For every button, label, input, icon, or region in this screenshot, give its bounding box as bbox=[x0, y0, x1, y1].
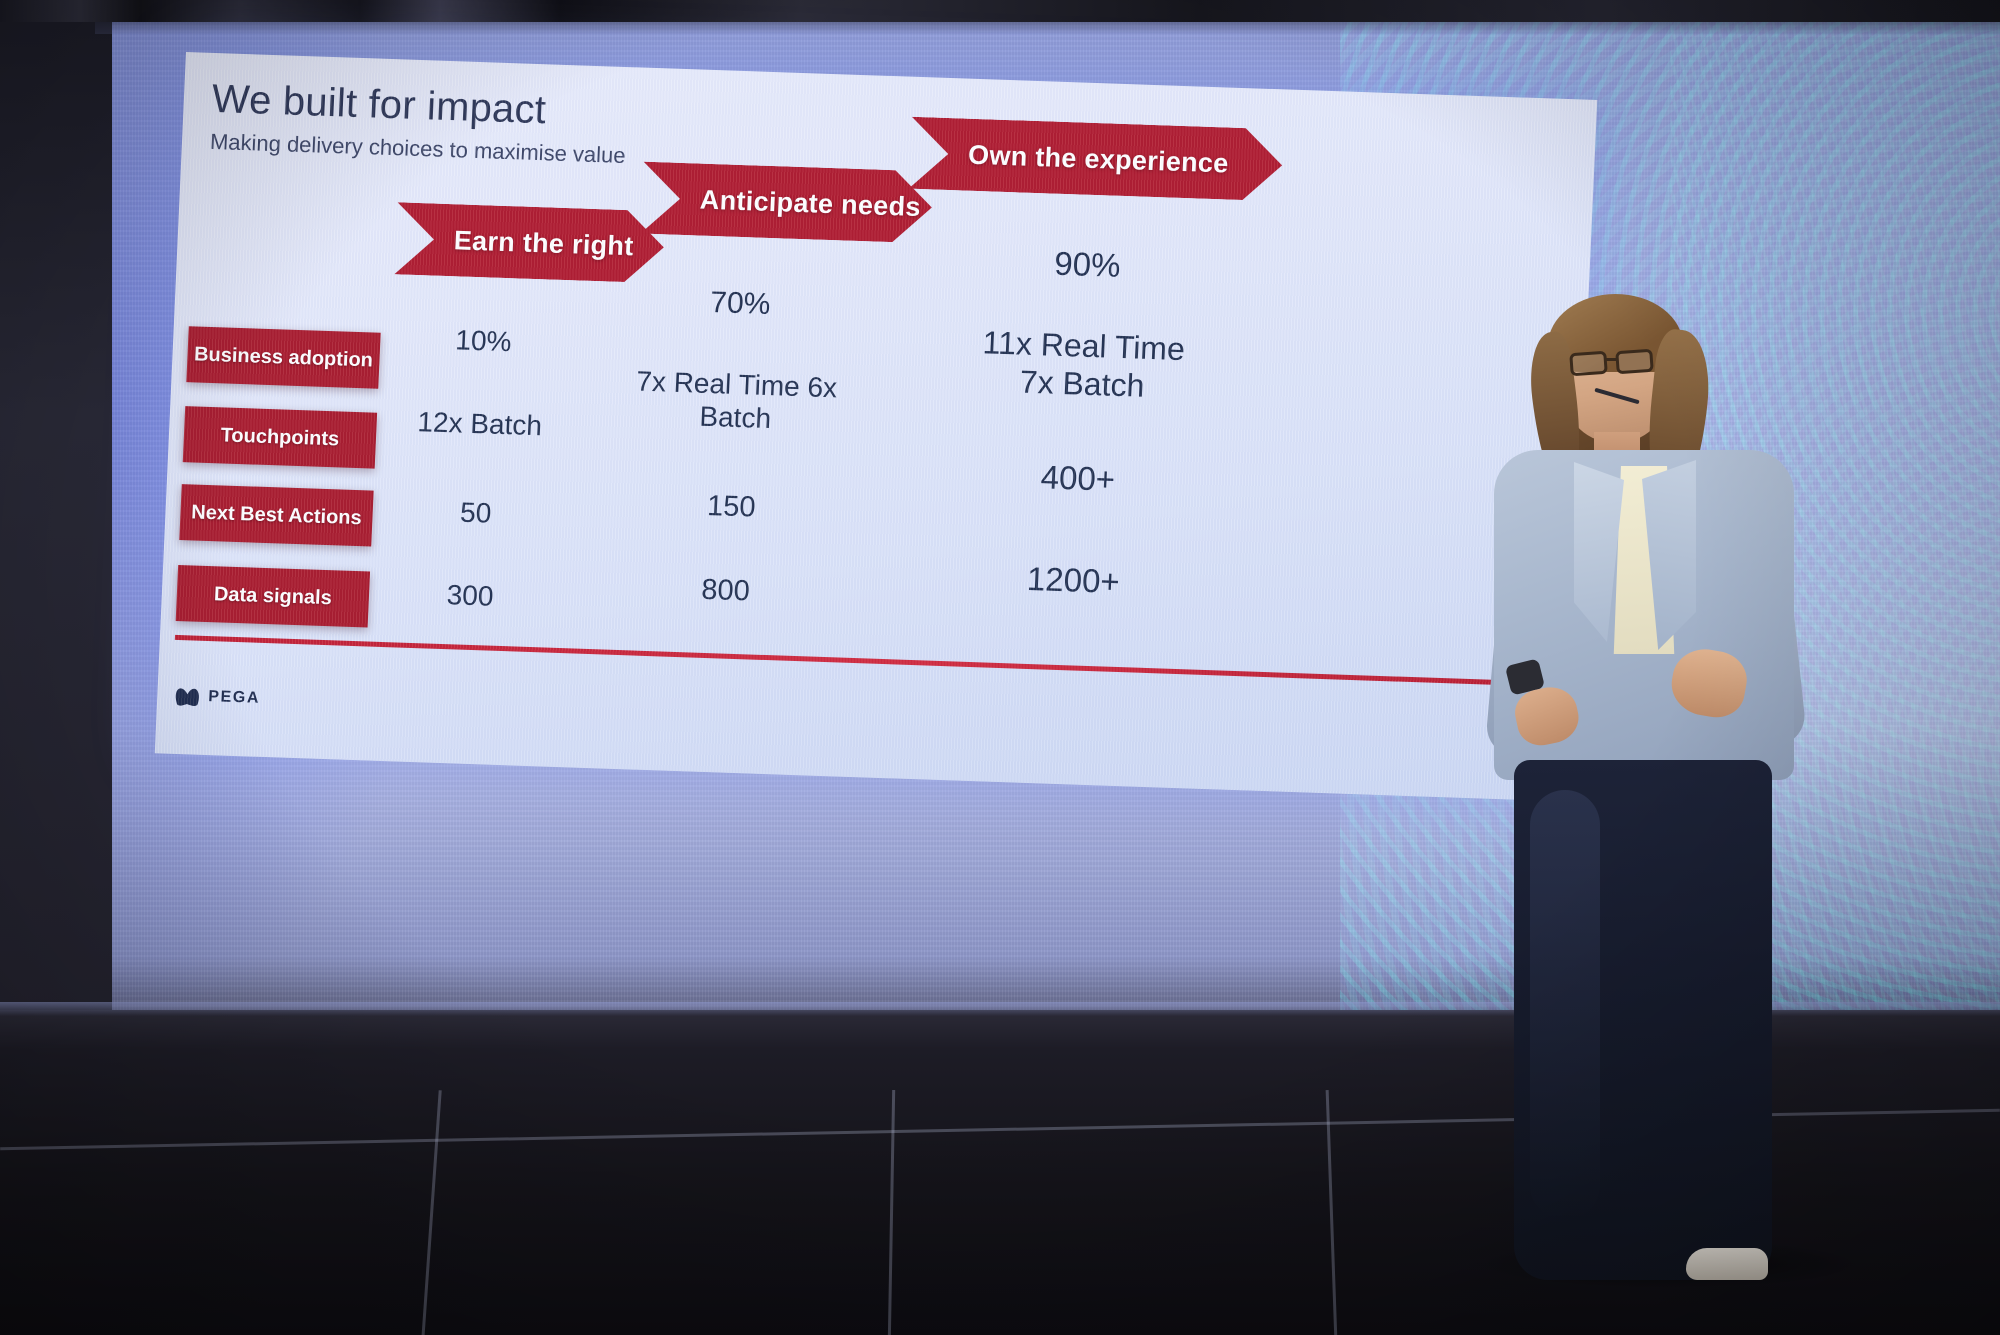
cell-business-adoption-earn-the-right: 10% bbox=[403, 322, 564, 360]
cell-touchpoints-anticipate-needs: 7x Real Time 6x Batch bbox=[610, 364, 863, 439]
slide-title: We built for impact bbox=[211, 77, 547, 133]
cell-next-best-actions-anticipate-needs: 150 bbox=[641, 487, 822, 527]
presenter-trousers-highlight bbox=[1530, 790, 1600, 1220]
cell-data-signals-anticipate-needs: 800 bbox=[635, 571, 816, 611]
presenter bbox=[1490, 290, 1810, 1270]
pega-logo-text: PEGA bbox=[208, 688, 261, 708]
metric-label-next-best-actions: Next Best Actions bbox=[179, 484, 373, 546]
presenter-glasses-bridge bbox=[1606, 358, 1618, 361]
stage-photo: We built for impact Making delivery choi… bbox=[0, 0, 2000, 1335]
presenter-glasses-right-lens bbox=[1615, 349, 1654, 375]
presenter-shoe bbox=[1686, 1248, 1768, 1280]
cell-business-adoption-own-the-experience: 90% bbox=[977, 242, 1199, 288]
metric-label-data-signals: Data signals bbox=[176, 565, 370, 627]
slide-subtitle: Making delivery choices to maximise valu… bbox=[209, 129, 626, 169]
pega-wings-icon bbox=[175, 687, 202, 706]
ceiling-truss bbox=[0, 0, 2000, 22]
stage-chevron-anticipate-needs: Anticipate needs bbox=[640, 162, 933, 244]
metric-label-business-adoption: Business adoption bbox=[186, 326, 380, 388]
stage-chevron-label: Earn the right bbox=[395, 223, 634, 262]
metric-label-text: Business adoption bbox=[194, 343, 374, 372]
stage-chevron-own-the-experience: Own the experience bbox=[909, 117, 1284, 202]
slide-divider-line bbox=[175, 635, 1530, 686]
cell-touchpoints-earn-the-right: 12x Batch bbox=[389, 404, 570, 443]
cell-next-best-actions-own-the-experience: 400+ bbox=[962, 456, 1194, 503]
pega-logo: PEGA bbox=[175, 687, 261, 708]
stage-chevron-label: Anticipate needs bbox=[641, 182, 921, 222]
cell-data-signals-earn-the-right: 300 bbox=[389, 576, 550, 614]
cell-data-signals-own-the-experience: 1200+ bbox=[948, 557, 1200, 604]
stage-chevron-label: Own the experience bbox=[910, 137, 1230, 179]
metric-label-text: Data signals bbox=[213, 583, 332, 610]
wall-left-column bbox=[0, 0, 112, 1040]
metric-label-text: Touchpoints bbox=[220, 424, 339, 451]
presentation-slide: We built for impact Making delivery choi… bbox=[155, 52, 1597, 801]
cell-touchpoints-own-the-experience: 11x Real Time 7x Batch bbox=[931, 323, 1234, 409]
cell-business-adoption-anticipate-needs: 70% bbox=[645, 283, 836, 325]
stage-chevron-earn-the-right: Earn the right bbox=[394, 202, 665, 283]
metric-label-touchpoints: Touchpoints bbox=[183, 406, 377, 468]
cell-next-best-actions-earn-the-right: 50 bbox=[395, 493, 556, 531]
presenter-glasses-left-lens bbox=[1569, 351, 1608, 377]
metric-label-text: Next Best Actions bbox=[191, 501, 362, 530]
